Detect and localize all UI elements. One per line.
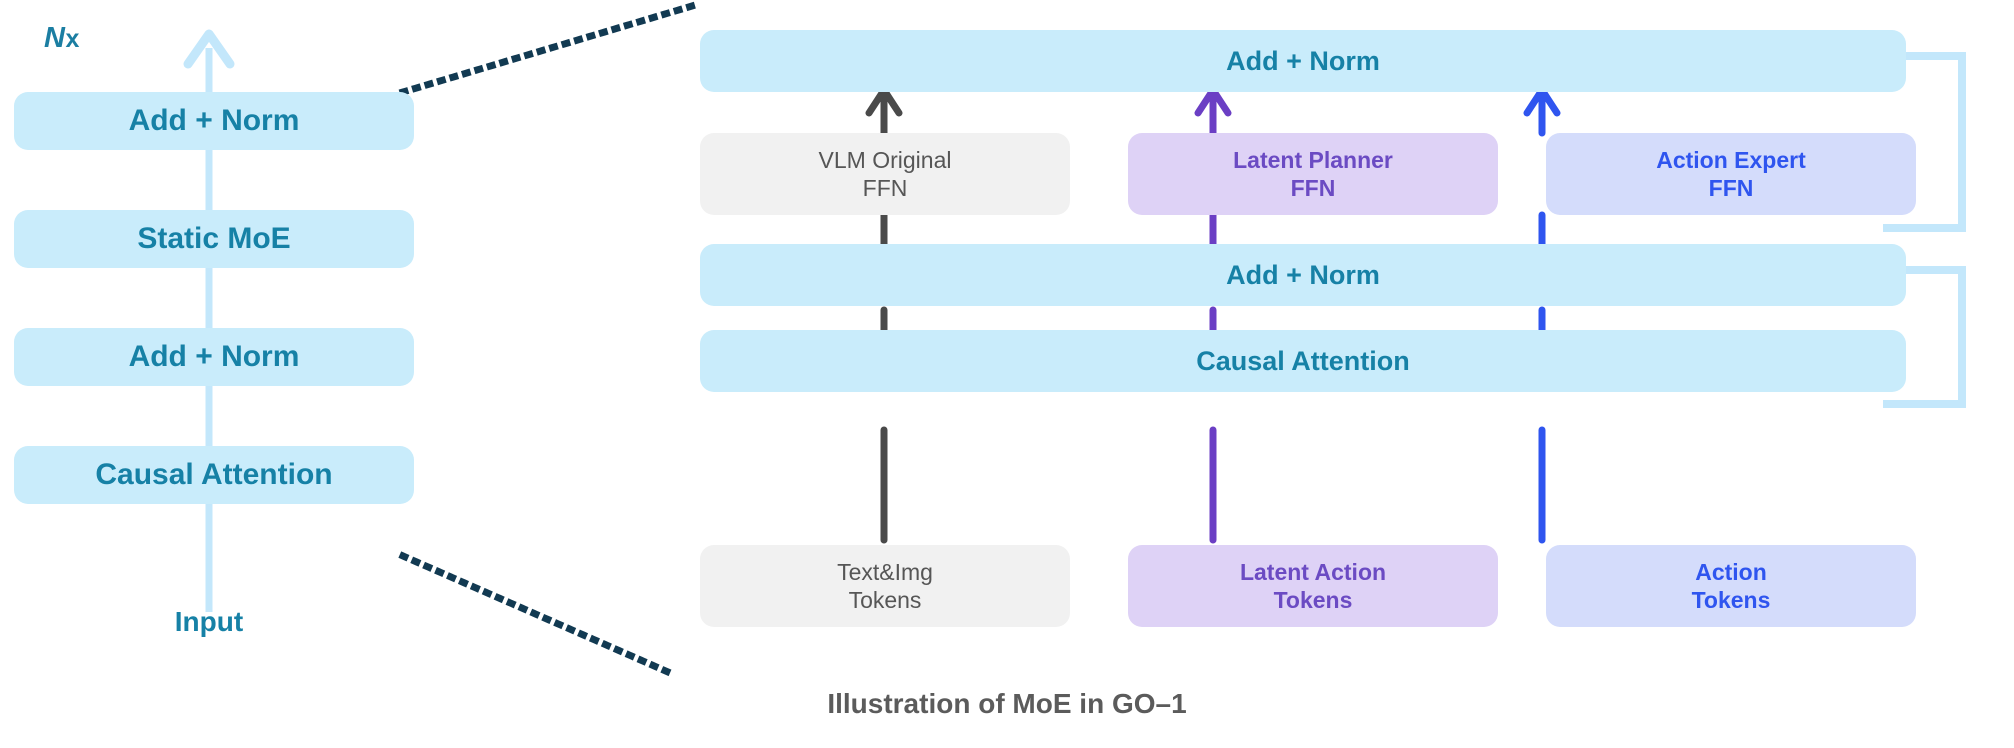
left-block-add-norm-top[interactable]: Add + Norm [14, 92, 414, 150]
dotted-connector-bottom [403, 556, 668, 672]
token-box-latent-action[interactable]: Latent Action Tokens [1128, 545, 1498, 627]
left-block-causal-attention[interactable]: Causal Attention [14, 446, 414, 504]
repeat-count-x: x [65, 25, 79, 53]
vlm-arrow-up-icon [869, 90, 899, 113]
right-causal-attention-bar[interactable]: Causal Attention [700, 330, 1906, 392]
right-top-add-norm-bar[interactable]: Add + Norm [700, 30, 1906, 92]
ffn-box-latent-planner[interactable]: Latent Planner FFN [1128, 133, 1498, 215]
ffn-box-action-expert[interactable]: Action Expert FFN [1546, 133, 1916, 215]
token-box-action[interactable]: Action Tokens [1546, 545, 1916, 627]
figure-caption: Illustration of MoE in GO–1 [0, 688, 2014, 720]
latent-arrow-up-icon [1198, 90, 1228, 113]
repeat-count-n: N [44, 22, 65, 54]
repeat-count-label: Nx [44, 22, 80, 55]
arrow-up-icon [188, 34, 230, 64]
input-label: Input [109, 606, 309, 638]
ffn-box-vlm-original[interactable]: VLM Original FFN [700, 133, 1070, 215]
diagram-canvas: Nx Add + Norm Static MoE Add + Norm Caus… [0, 0, 2014, 748]
dotted-connector-top [403, 6, 692, 92]
action-arrow-up-icon [1527, 90, 1557, 113]
right-mid-add-norm-bar[interactable]: Add + Norm [700, 244, 1906, 306]
left-block-static-moe[interactable]: Static MoE [14, 210, 414, 268]
left-block-add-norm-bottom[interactable]: Add + Norm [14, 328, 414, 386]
token-box-text-img[interactable]: Text&Img Tokens [700, 545, 1070, 627]
